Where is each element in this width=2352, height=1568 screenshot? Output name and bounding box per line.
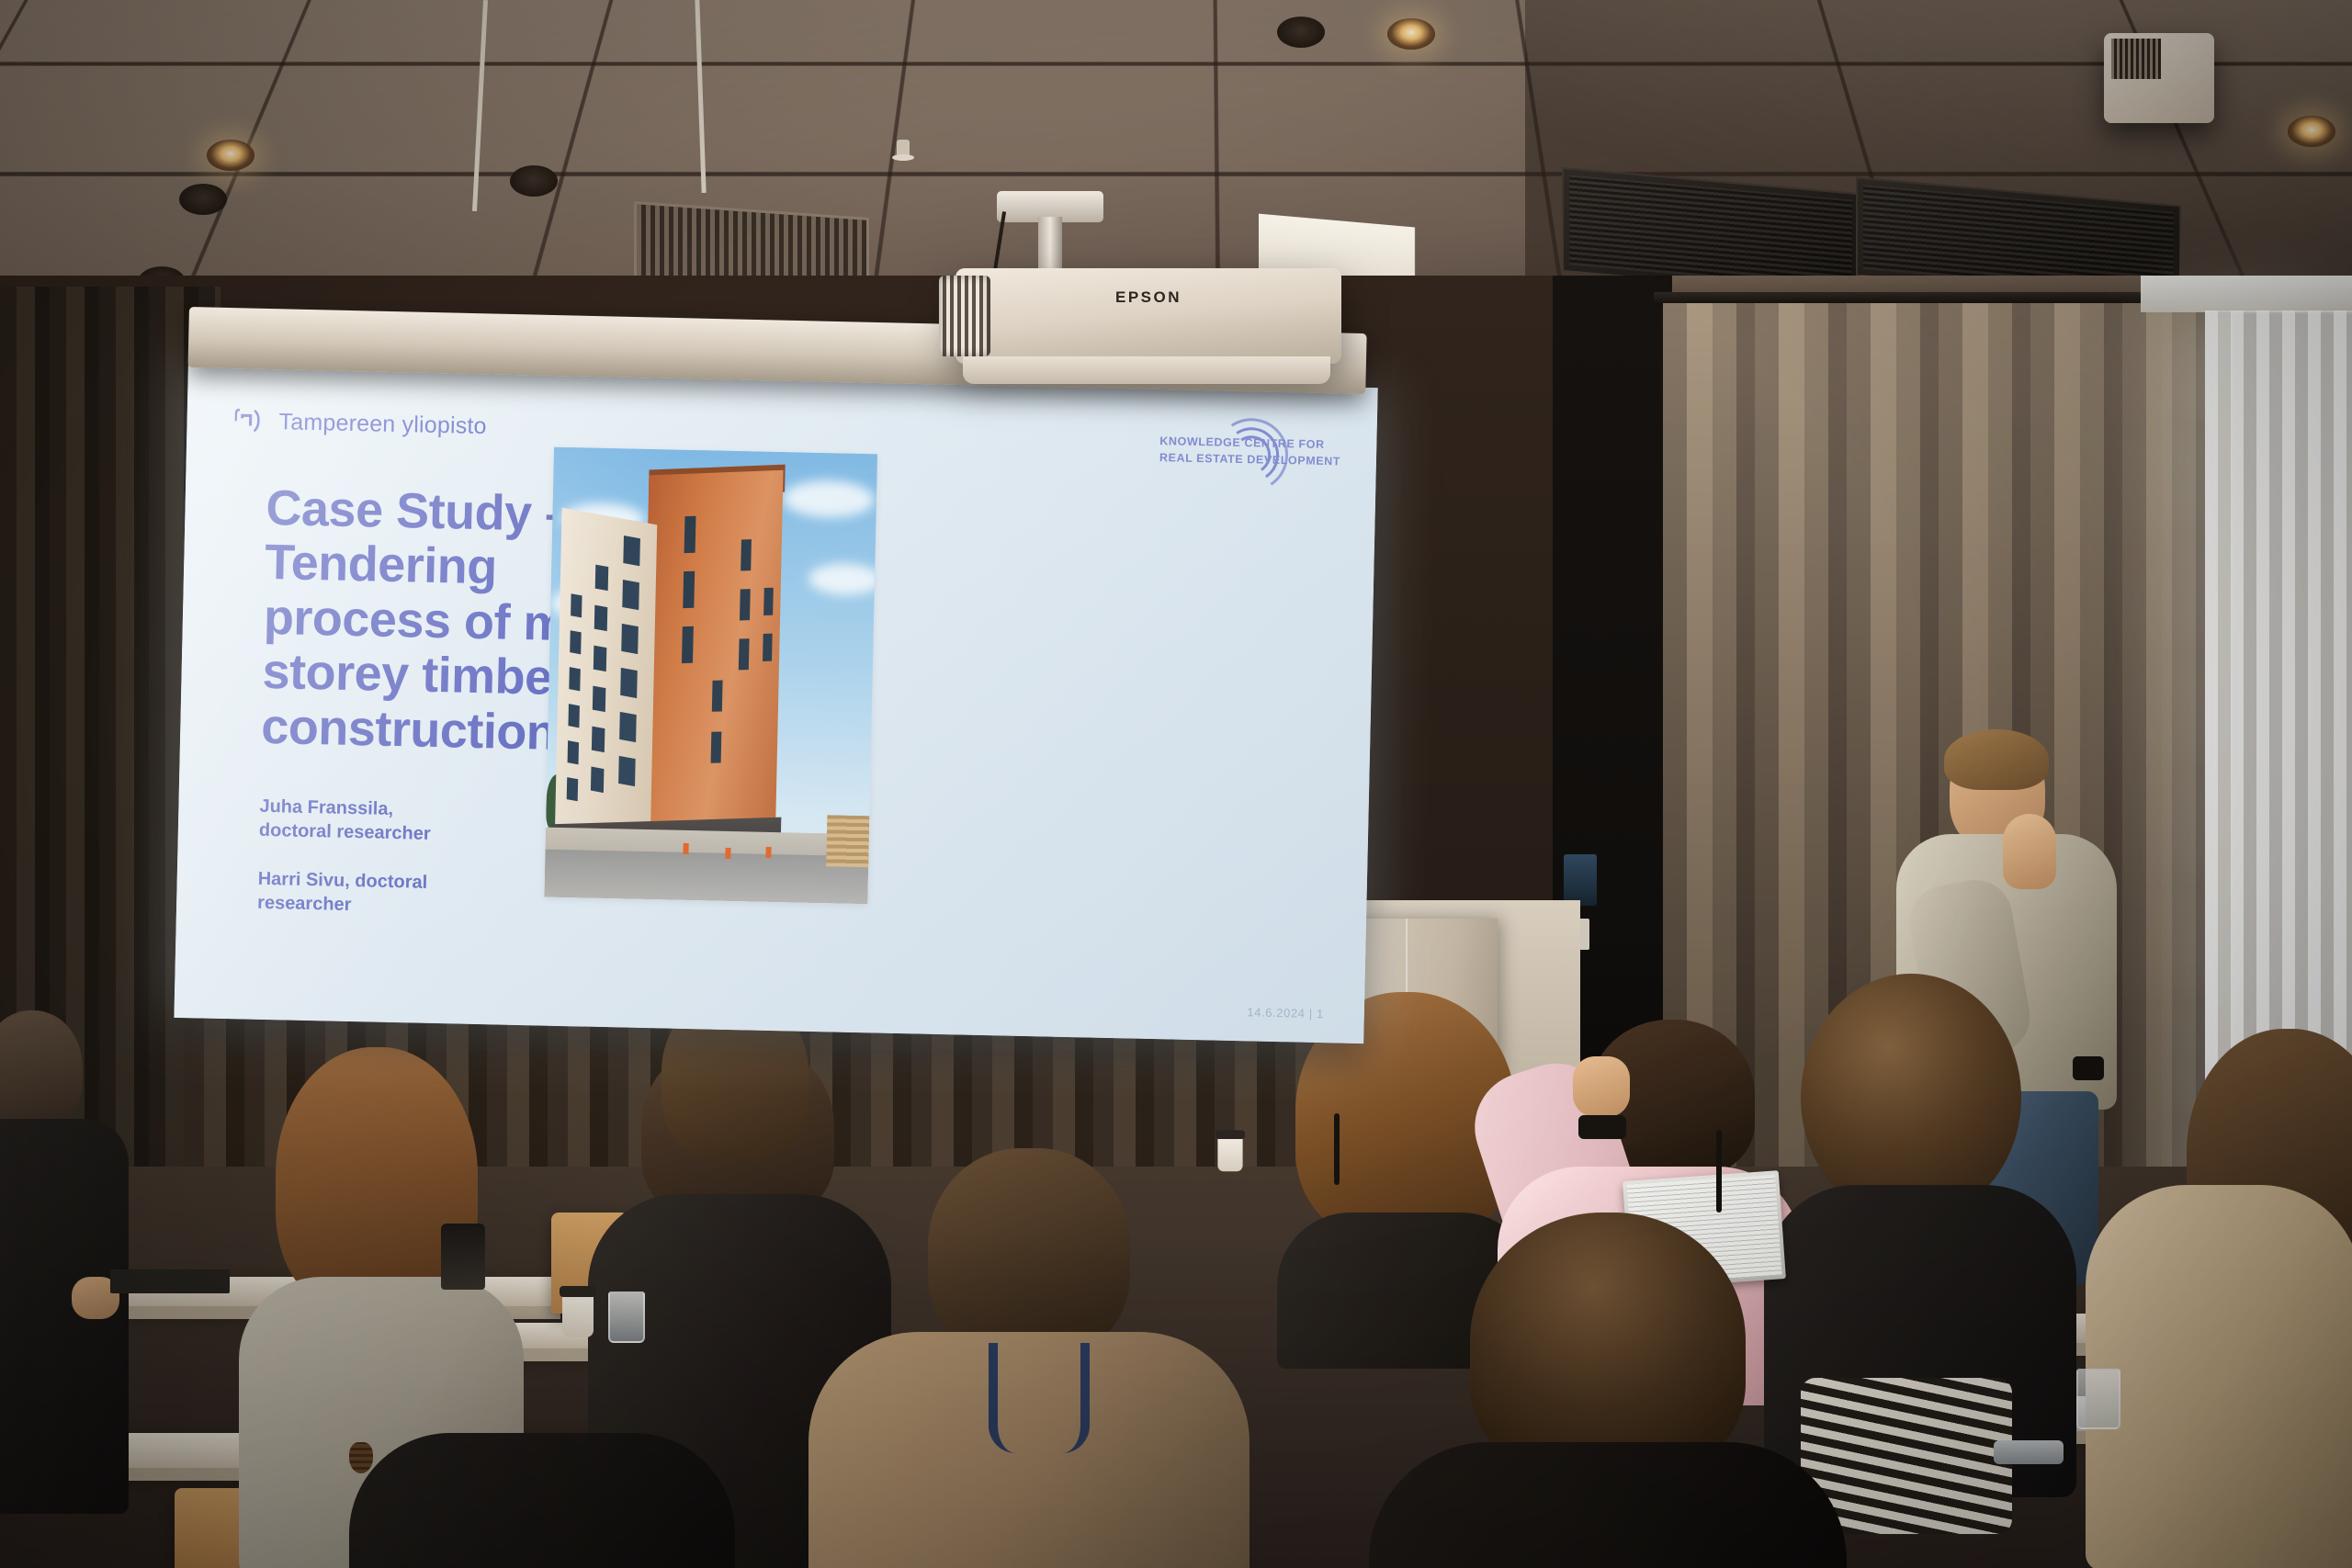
torso xyxy=(2086,1185,2352,1568)
epson-projector: EPSON xyxy=(955,268,1341,364)
projector-brand-label: EPSON xyxy=(1115,288,1182,307)
audience-member-front-center-dark xyxy=(1360,1213,1837,1568)
coffee-cup xyxy=(1217,1136,1242,1171)
bottle xyxy=(441,1224,485,1290)
tampere-university-logo-icon xyxy=(234,407,268,435)
microphone-stand xyxy=(1334,1113,1340,1185)
sprinkler-head xyxy=(897,140,910,160)
ceiling-downlight xyxy=(207,140,254,171)
ceiling-downlight xyxy=(510,165,558,197)
tampere-university-logo: Tampereen yliopisto xyxy=(234,407,487,440)
ceiling-downlight xyxy=(2288,116,2335,147)
ceiling-downlight xyxy=(1387,18,1435,50)
tampere-university-logo-label: Tampereen yliopisto xyxy=(278,409,487,440)
presenter-hair xyxy=(1944,729,2049,790)
author-2: Harri Sivu, doctoral researcher xyxy=(257,868,534,921)
conference-room-photo: is Tampereen yliopisto KNOWLEDGE C xyxy=(0,0,2352,1568)
audience-member-front-left-dark xyxy=(349,1433,735,1568)
ceiling-downlight xyxy=(1277,17,1325,48)
knowledge-centre-logo-line2: REAL ESTATE DEVELOPMENT xyxy=(1159,451,1340,468)
presenter-hand xyxy=(2003,814,2056,889)
hair xyxy=(1470,1213,1746,1479)
slide-authors: Juha Franssila, doctoral researcher Harr… xyxy=(256,795,535,947)
projector-lens-icon xyxy=(939,276,990,356)
knowledge-centre-logo: KNOWLEDGE CENTRE FOR REAL ESTATE DEVELOP… xyxy=(1159,416,1326,490)
suspended-ceiling xyxy=(0,0,2352,303)
watch xyxy=(1578,1115,1626,1139)
ceiling-projector-secondary xyxy=(2104,33,2214,123)
hand xyxy=(1573,1056,1630,1117)
tray xyxy=(1994,1440,2064,1464)
slide-footer: 14.6.2024 | 1 xyxy=(1247,1005,1324,1021)
knowledge-centre-logo-line1: KNOWLEDGE CENTRE FOR xyxy=(1159,434,1325,451)
notebook xyxy=(110,1269,230,1293)
ceiling-downlight xyxy=(179,184,227,215)
audience-member-tan-front xyxy=(808,1148,1249,1568)
water-glass xyxy=(608,1292,645,1343)
coffee-cup xyxy=(562,1293,594,1337)
lanyard xyxy=(989,1343,1090,1453)
presenter-watch xyxy=(2073,1056,2104,1080)
head xyxy=(928,1148,1130,1359)
room-control-panel xyxy=(1564,854,1597,906)
author-1: Juha Franssila, doctoral researcher xyxy=(259,795,536,849)
water-glass xyxy=(2076,1369,2120,1429)
torso xyxy=(349,1433,735,1568)
slide-building-photo xyxy=(544,447,877,905)
torso xyxy=(1369,1442,1847,1568)
window-frame xyxy=(2141,276,2352,312)
presentation-slide: Tampereen yliopisto KNOWLEDGE CENTRE FOR… xyxy=(174,362,1377,1043)
pinecone-decoration xyxy=(349,1442,373,1473)
microphone-stand xyxy=(1716,1130,1722,1213)
audience-member-tan-sweater-right xyxy=(2086,1130,2352,1568)
head xyxy=(0,1010,83,1130)
projector-mount-pole xyxy=(1038,217,1062,276)
projection-screen: Tampereen yliopisto KNOWLEDGE CENTRE FOR… xyxy=(174,362,1377,1043)
